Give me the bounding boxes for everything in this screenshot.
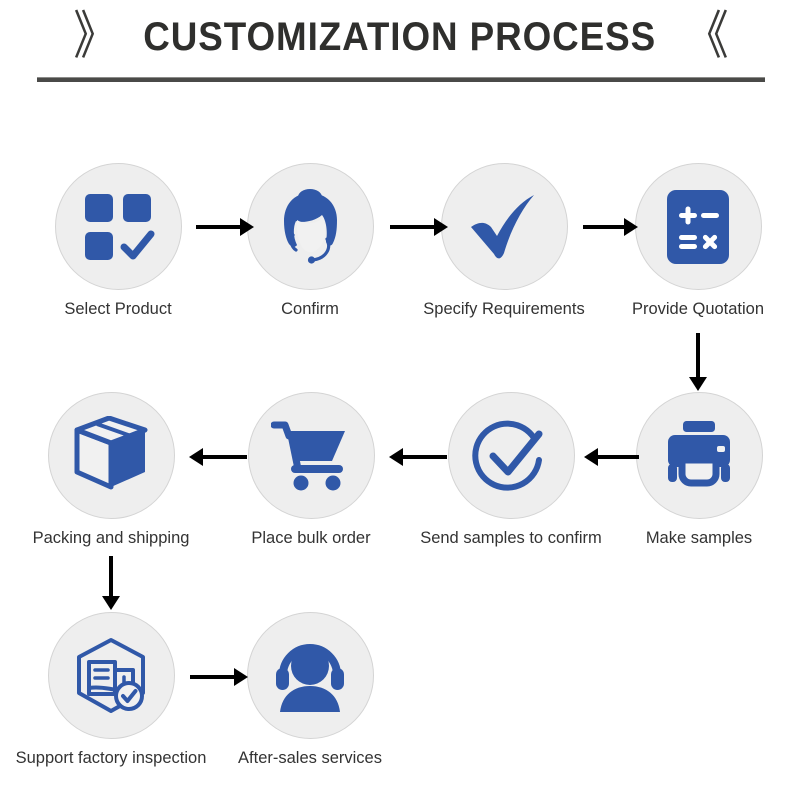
step-icon-circle [441,163,568,290]
step-icon-circle [55,163,182,290]
step-label: Confirm [230,299,390,320]
step-icon-circle [248,392,375,519]
arrow-shaft [390,225,434,229]
printer-icon [662,420,736,492]
arrow-shaft [598,455,639,459]
step-icon-circle [247,163,374,290]
step-icon-circle [636,392,763,519]
step-node-place-bulk-order[interactable]: Place bulk order [196,392,426,549]
factory-shield-check-icon [71,636,151,716]
connector-arrow-down [101,556,121,610]
arrow-head [624,218,638,236]
arrow-shaft [696,333,700,377]
circle-check-icon [471,416,551,496]
grid-check-icon [81,190,155,264]
arrow-shaft [583,225,624,229]
arrow-head [234,668,248,686]
arrow-head [689,377,707,391]
step-label: Place bulk order [196,528,426,549]
connector-arrow-left [584,447,639,467]
step-label: Provide Quotation [583,299,800,320]
step-label: Packing and shipping [0,528,226,549]
arrow-head [189,448,203,466]
step-node-packing-and-shipping[interactable]: Packing and shipping [0,392,226,549]
package-box-icon [71,416,151,496]
arrow-shaft [109,556,113,596]
arrow-shaft [203,455,247,459]
step-node-support-factory-inspection[interactable]: Support factory inspection [0,612,226,769]
step-node-send-samples-to-confirm[interactable]: Send samples to confirm [396,392,626,549]
step-node-provide-quotation[interactable]: Provide Quotation [583,163,800,320]
header: 》 CUSTOMIZATION PROCESS 《 [0,0,800,100]
arrow-shaft [403,455,447,459]
arrow-head [389,448,403,466]
calculator-icon [663,188,733,266]
connector-arrow-left [389,447,447,467]
shopping-cart-icon [271,419,351,493]
arrow-shaft [190,675,234,679]
connector-arrow-right [390,217,448,237]
step-label: Select Product [38,299,198,320]
step-label: Send samples to confirm [396,528,626,549]
page-title: 》 CUSTOMIZATION PROCESS 《 [0,8,800,66]
page-title-text: CUSTOMIZATION PROCESS [144,15,657,59]
arrow-head [434,218,448,236]
headset-agent-icon [270,187,350,267]
left-chevron-icon: 》 [73,11,115,63]
step-icon-circle [448,392,575,519]
checkmark-icon [464,187,544,267]
step-node-confirm[interactable]: Confirm [230,163,390,320]
connector-arrow-right [190,667,248,687]
step-icon-circle [247,612,374,739]
right-chevron-icon: 《 [685,11,727,63]
step-icon-circle [635,163,762,290]
step-label: Support factory inspection [0,748,226,769]
arrow-head [240,218,254,236]
step-label: After-sales services [195,748,425,769]
connector-arrow-down [688,333,708,391]
connector-arrow-right [583,217,638,237]
title-divider [37,77,765,82]
step-icon-circle [48,392,175,519]
arrow-head [584,448,598,466]
arrow-head [102,596,120,610]
step-icon-circle [48,612,175,739]
step-node-after-sales-services[interactable]: After-sales services [195,612,425,769]
connector-arrow-right [196,217,254,237]
arrow-shaft [196,225,240,229]
connector-arrow-left [189,447,247,467]
step-node-select-product[interactable]: Select Product [38,163,198,320]
support-person-icon [270,639,350,713]
